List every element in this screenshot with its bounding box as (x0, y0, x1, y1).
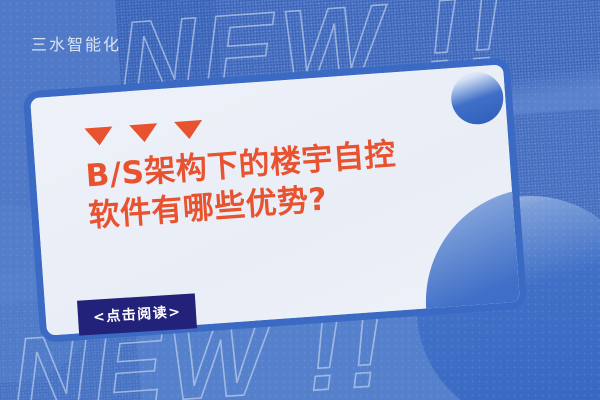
read-more-button[interactable]: <点击阅读> (77, 293, 197, 335)
triangle-down-icon (174, 120, 203, 140)
triangle-down-icon (84, 126, 113, 146)
brand-watermark: 三水智能化 (31, 31, 121, 55)
triangle-down-icon (129, 123, 158, 143)
poster-canvas: NEW !! NEW !! B/S架构下的楼宇自控 软件有哪些优势? <点击阅读… (0, 0, 600, 400)
